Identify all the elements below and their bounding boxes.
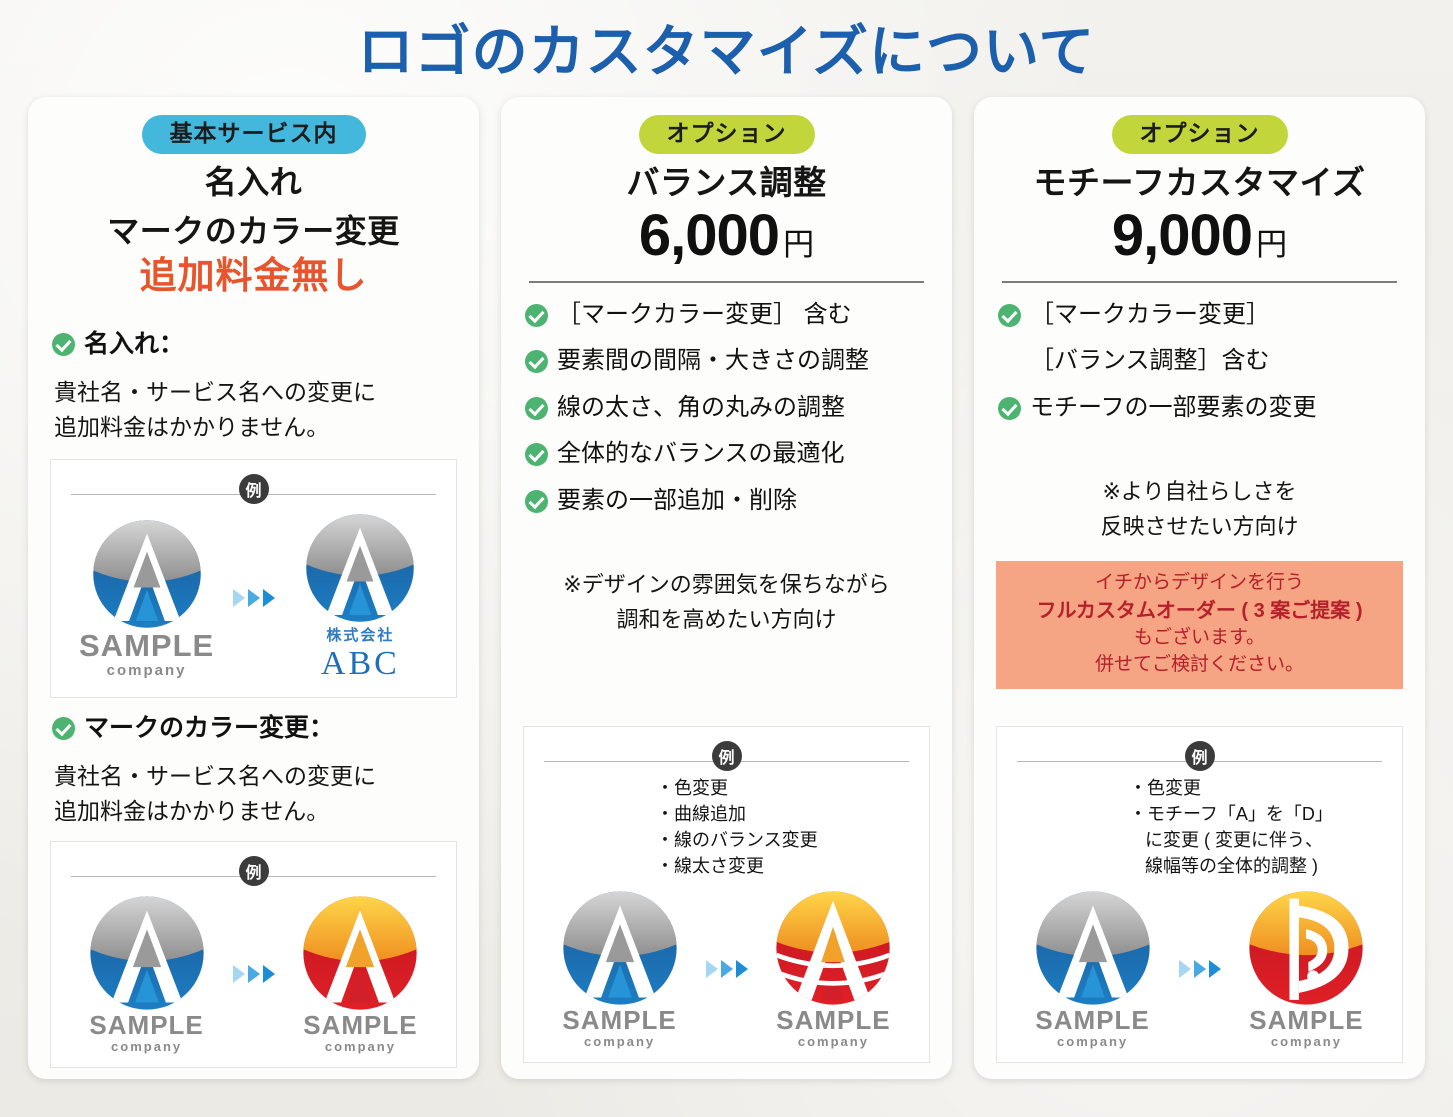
feature-label: 要素の一部追加・削除 xyxy=(557,485,797,517)
card-title-line1: 名入れ xyxy=(50,162,457,203)
note-line2: 調和を高めたい方向け xyxy=(523,602,930,637)
infographic-page: ロゴのカスタマイズについて 基本サービス内 名入れ マークのカラー変更 追加料金… xyxy=(0,0,1453,1117)
example-bullet: ・線のバランス変更 xyxy=(656,827,915,853)
feature-label: 要素間の間隔・大きさの調整 xyxy=(557,345,869,377)
check-icon xyxy=(52,333,75,356)
badge-row: オプション xyxy=(996,115,1403,154)
example-panel-balance: 例 ・色変更 ・曲線追加 ・線のバランス変更 ・線太さ変更 xyxy=(523,726,930,1063)
card-title: モチーフカスタマイズ xyxy=(996,162,1403,204)
feature-item: 名入れ： xyxy=(52,328,455,362)
badge-basic-service: 基本サービス内 xyxy=(142,115,366,154)
logo-mark-gray-blue-icon xyxy=(561,889,679,1007)
logo-word-main: SAMPLE xyxy=(542,1007,697,1033)
logo-word-main: SAMPLE xyxy=(69,630,224,661)
feature-title: 名入れ： xyxy=(84,328,184,362)
logo-word-abc: ABC xyxy=(283,645,438,683)
example-head: 例 xyxy=(1011,743,1388,769)
arrow-icons xyxy=(1179,960,1221,978)
card-note: ※デザインの雰囲気を保ちながら 調和を高めたい方向け xyxy=(523,567,930,637)
example-bullet: ・色変更 xyxy=(656,775,915,801)
logo-wordmark-sample: SAMPLE company xyxy=(283,1012,438,1053)
alert-line3: もございます。 xyxy=(1002,625,1397,652)
pricing-cards-row: 基本サービス内 名入れ マークのカラー変更 追加料金無し 名入れ： 貴社名・サー… xyxy=(0,85,1453,1079)
example-bullet: ・曲線追加 xyxy=(656,801,915,827)
logo-word-sub: company xyxy=(1015,1035,1170,1048)
logo-before: SAMPLE company xyxy=(69,894,224,1053)
feature-list: ［マークカラー変更］ 含む 要素間の間隔・大きさの調整 線の太さ、角の丸みの調整… xyxy=(523,299,930,531)
check-icon xyxy=(998,304,1021,327)
logo-after: SAMPLE company xyxy=(283,894,438,1053)
example-badge-icon: 例 xyxy=(239,856,269,886)
example-bullet: ・線太さ変更 xyxy=(656,853,915,879)
divider xyxy=(1002,281,1397,283)
logo-wordmark-sample: SAMPLE company xyxy=(542,1007,697,1048)
price-unit: 円 xyxy=(783,227,814,262)
note-line1: ※デザインの雰囲気を保ちながら xyxy=(523,567,930,602)
check-icon xyxy=(525,490,548,513)
logo-after: SAMPLE company xyxy=(1229,889,1384,1048)
logo-mark-orange-red-striped-icon xyxy=(774,889,892,1007)
logo-word-kk: 株式会社 xyxy=(283,624,438,645)
check-icon xyxy=(52,717,75,740)
alert-line1: イチからデザインを行う xyxy=(1002,570,1397,597)
example-head: 例 xyxy=(538,743,915,769)
logo-wordmark-sample: SAMPLE company xyxy=(1015,1007,1170,1048)
feature-label: ［マークカラー変更］ xyxy=(1030,299,1270,331)
logo-mark-gray-blue-icon xyxy=(1034,889,1152,1007)
feature-label: 全体的なバランスの最適化 xyxy=(557,438,845,470)
feature-body-line1: 貴社名・サービス名への変更に xyxy=(54,760,455,793)
feature-list: 名入れ： 貴社名・サービス名への変更に 追加料金はかかりません。 xyxy=(50,328,457,455)
divider xyxy=(529,281,924,283)
price-amount: 9,000 xyxy=(1112,203,1252,268)
logo-wordmark-sample: SAMPLE company xyxy=(69,630,224,678)
logo-word-main: SAMPLE xyxy=(1015,1007,1170,1033)
card-balance-adjustment: オプション バランス調整 6,000円 ［マークカラー変更］ 含む 要素間の間隔… xyxy=(501,97,952,1079)
logo-word-main: SAMPLE xyxy=(756,1007,911,1033)
logo-mark-orange-red-icon xyxy=(301,894,419,1012)
arrow-icons xyxy=(706,960,748,978)
logo-after: 株式会社 ABC xyxy=(283,512,438,683)
logo-mark-motif-d-icon xyxy=(1247,889,1365,1007)
logo-before: SAMPLE company xyxy=(69,518,224,678)
price: 9,000円 xyxy=(996,206,1403,267)
check-icon xyxy=(525,304,548,327)
price-unit: 円 xyxy=(1256,227,1287,262)
logo-wordmark-sample: SAMPLE company xyxy=(1229,1007,1384,1048)
feature-body-line2: 追加料金はかかりません。 xyxy=(54,411,455,444)
arrow-icons xyxy=(233,589,275,607)
feature-item: モチーフの一部要素の変更 xyxy=(998,392,1401,424)
logo-comparison-row: SAMPLE company xyxy=(65,508,442,687)
feature-item: 要素間の間隔・大きさの調整 xyxy=(525,345,928,377)
logo-word-main: SAMPLE xyxy=(283,1012,438,1038)
card-basic-service: 基本サービス内 名入れ マークのカラー変更 追加料金無し 名入れ： 貴社名・サー… xyxy=(28,97,479,1079)
feature-label: ［マークカラー変更］ 含む xyxy=(557,299,852,331)
card-title: バランス調整 xyxy=(523,162,930,204)
feature-list-2: マークのカラー変更： 貴社名・サービス名への変更に 追加料金はかかりません。 xyxy=(50,712,457,839)
feature-item: ［マークカラー変更］ 含む xyxy=(525,299,928,331)
logo-word-sub: company xyxy=(69,1040,224,1053)
example-head: 例 xyxy=(65,476,442,502)
feature-body-line2: 追加料金はかかりません。 xyxy=(54,795,455,828)
card-title-line2: マークのカラー変更 xyxy=(50,211,457,252)
logo-after: SAMPLE company xyxy=(756,889,911,1048)
example-panel-color: 例 xyxy=(50,841,457,1068)
feature-label: ［バランス調整］含む xyxy=(1030,345,1270,377)
logo-comparison-row: SAMPLE company xyxy=(1011,885,1388,1052)
feature-list: ［マークカラー変更］ ［バランス調整］含む モチーフの一部要素の変更 xyxy=(996,299,1403,438)
full-custom-order-callout: イチからデザインを行う フルカスタムオーダー ( 3 案ご提案 ) もございます… xyxy=(996,561,1403,689)
feature-item: ［マークカラー変更］ xyxy=(998,299,1401,331)
logo-wordmark-sample: SAMPLE company xyxy=(756,1007,911,1048)
example-badge-icon: 例 xyxy=(712,741,742,771)
card-motif-customize: オプション モチーフカスタマイズ 9,000円 ［マークカラー変更］ ［バランス… xyxy=(974,97,1425,1079)
badge-option: オプション xyxy=(1112,115,1288,154)
logo-before: SAMPLE company xyxy=(542,889,697,1048)
example-bullet-list: ・色変更 ・曲線追加 ・線のバランス変更 ・線太さ変更 xyxy=(538,775,915,879)
example-bullet: ・モチーフ「A」を「D」 xyxy=(1129,801,1388,827)
logo-mark-gray-blue-icon xyxy=(304,512,416,624)
check-icon xyxy=(525,443,548,466)
badge-row: オプション xyxy=(523,115,930,154)
example-badge-icon: 例 xyxy=(1185,741,1215,771)
logo-before: SAMPLE company xyxy=(1015,889,1170,1048)
check-icon xyxy=(525,397,548,420)
logo-word-sub: company xyxy=(756,1035,911,1048)
logo-comparison-row: SAMPLE company xyxy=(65,890,442,1057)
note-line2: 反映させたい方向け xyxy=(996,509,1403,544)
example-bullet-cont: に変更 ( 変更に伴う、 xyxy=(1129,827,1388,853)
example-head: 例 xyxy=(65,858,442,884)
logo-word-main: SAMPLE xyxy=(69,1012,224,1038)
feature-item-continued: ［バランス調整］含む xyxy=(1030,345,1401,377)
example-bullet-list: ・色変更 ・モチーフ「A」を「D」 に変更 ( 変更に伴う、 線幅等の全体的調整… xyxy=(1011,775,1388,879)
page-title: ロゴのカスタマイズについて xyxy=(0,0,1453,85)
feature-item: 要素の一部追加・削除 xyxy=(525,485,928,517)
example-panel-motif: 例 ・色変更 ・モチーフ「A」を「D」 に変更 ( 変更に伴う、 線幅等の全体的… xyxy=(996,726,1403,1063)
example-panel-naming: 例 xyxy=(50,459,457,698)
check-icon xyxy=(525,350,548,373)
arrow-icons xyxy=(233,965,275,983)
feature-title: マークのカラー変更： xyxy=(84,712,334,746)
feature-body-line1: 貴社名・サービス名への変更に xyxy=(54,376,455,409)
feature-label: 線の太さ、角の丸みの調整 xyxy=(557,392,845,424)
alert-line2: フルカスタムオーダー ( 3 案ご提案 ) xyxy=(1002,597,1397,625)
feature-label: モチーフの一部要素の変更 xyxy=(1030,392,1317,424)
feature-item: 全体的なバランスの最適化 xyxy=(525,438,928,470)
logo-word-sub: company xyxy=(1229,1035,1384,1048)
logo-wordmark-sample: SAMPLE company xyxy=(69,1012,224,1053)
badge-option: オプション xyxy=(639,115,815,154)
logo-word-sub: company xyxy=(283,1040,438,1053)
example-bullet: ・色変更 xyxy=(1129,775,1388,801)
price: 6,000円 xyxy=(523,206,930,267)
logo-comparison-row: SAMPLE company xyxy=(538,885,915,1052)
badge-row: 基本サービス内 xyxy=(50,115,457,154)
logo-word-sub: company xyxy=(542,1035,697,1048)
example-bullet-cont: 線幅等の全体的調整 ) xyxy=(1129,853,1388,879)
price-amount: 6,000 xyxy=(639,203,779,268)
logo-mark-gray-blue-icon xyxy=(88,894,206,1012)
feature-item: マークのカラー変更： xyxy=(52,712,455,746)
logo-word-sub: company xyxy=(69,663,224,678)
note-line1: ※より自社らしさを xyxy=(996,474,1403,509)
check-icon xyxy=(998,397,1021,420)
free-label: 追加料金無し xyxy=(50,254,457,298)
alert-line4: 併せてご検討ください。 xyxy=(1002,652,1397,679)
feature-item: 線の太さ、角の丸みの調整 xyxy=(525,392,928,424)
logo-word-main: SAMPLE xyxy=(1229,1007,1384,1033)
card-note: ※より自社らしさを 反映させたい方向け xyxy=(996,474,1403,544)
logo-mark-gray-blue-icon xyxy=(91,518,203,630)
example-badge-icon: 例 xyxy=(239,474,269,504)
logo-wordmark-abc: 株式会社 ABC xyxy=(283,624,438,683)
